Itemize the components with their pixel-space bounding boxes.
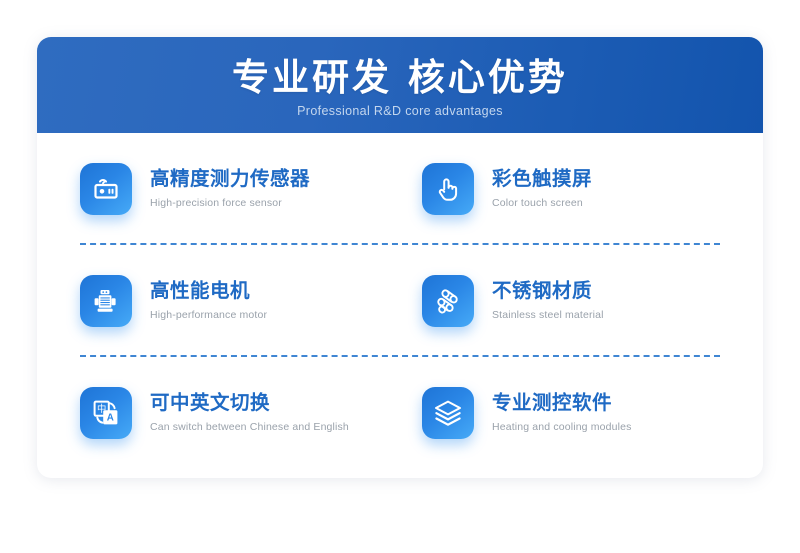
feature-item-motor[interactable]: 高性能电机 High-performance motor — [80, 245, 400, 357]
feature-text: 可中英文切换 Can switch between Chinese and En… — [150, 392, 349, 434]
feature-title: 不锈钢材质 — [492, 280, 604, 303]
motor-icon — [80, 275, 132, 327]
feature-item-force-sensor[interactable]: 高精度测力传感器 High-precision force sensor — [80, 133, 400, 245]
feature-title: 高性能电机 — [150, 280, 267, 303]
card-header: 专业研发 核心优势 Professional R&D core advantag… — [37, 37, 763, 133]
feature-subtitle: High-performance motor — [150, 309, 267, 322]
layers-icon — [422, 387, 474, 439]
steel-pipes-icon — [422, 275, 474, 327]
advantages-page: 专业研发 核心优势 Professional R&D core advantag… — [0, 0, 800, 553]
feature-subtitle: Color touch screen — [492, 197, 592, 210]
feature-item-control-software[interactable]: 专业测控软件 Heating and cooling modules — [400, 357, 720, 469]
feature-text: 彩色触摸屏 Color touch screen — [492, 168, 592, 210]
feature-subtitle: Stainless steel material — [492, 309, 604, 322]
feature-row: 高精度测力传感器 High-precision force sensor 彩色触… — [80, 133, 720, 245]
page-subtitle: Professional R&D core advantages — [297, 104, 503, 118]
feature-title: 高精度测力传感器 — [150, 168, 310, 191]
feature-row: 中 A 可中英文切换 Can switch between Chinese an… — [80, 357, 720, 469]
feature-title: 彩色触摸屏 — [492, 168, 592, 191]
feature-item-language-switch[interactable]: 中 A 可中英文切换 Can switch between Chinese an… — [80, 357, 400, 469]
feature-text: 高性能电机 High-performance motor — [150, 280, 267, 322]
advantages-card: 专业研发 核心优势 Professional R&D core advantag… — [37, 37, 763, 478]
feature-item-stainless-steel[interactable]: 不锈钢材质 Stainless steel material — [400, 245, 720, 357]
touch-hand-icon — [422, 163, 474, 215]
feature-row: 高性能电机 High-performance motor — [80, 245, 720, 357]
feature-text: 专业测控软件 Heating and cooling modules — [492, 392, 631, 434]
features-grid: 高精度测力传感器 High-precision force sensor 彩色触… — [37, 133, 763, 469]
force-sensor-icon — [80, 163, 132, 215]
feature-text: 不锈钢材质 Stainless steel material — [492, 280, 604, 322]
page-title: 专业研发 核心优势 — [232, 58, 568, 97]
svg-text:A: A — [107, 413, 114, 424]
feature-subtitle: Can switch between Chinese and English — [150, 421, 349, 434]
feature-item-touch-screen[interactable]: 彩色触摸屏 Color touch screen — [400, 133, 720, 245]
feature-title: 专业测控软件 — [492, 392, 631, 415]
feature-subtitle: Heating and cooling modules — [492, 421, 631, 434]
feature-subtitle: High-precision force sensor — [150, 197, 310, 210]
feature-text: 高精度测力传感器 High-precision force sensor — [150, 168, 310, 210]
translate-icon: 中 A — [80, 387, 132, 439]
feature-title: 可中英文切换 — [150, 392, 349, 415]
